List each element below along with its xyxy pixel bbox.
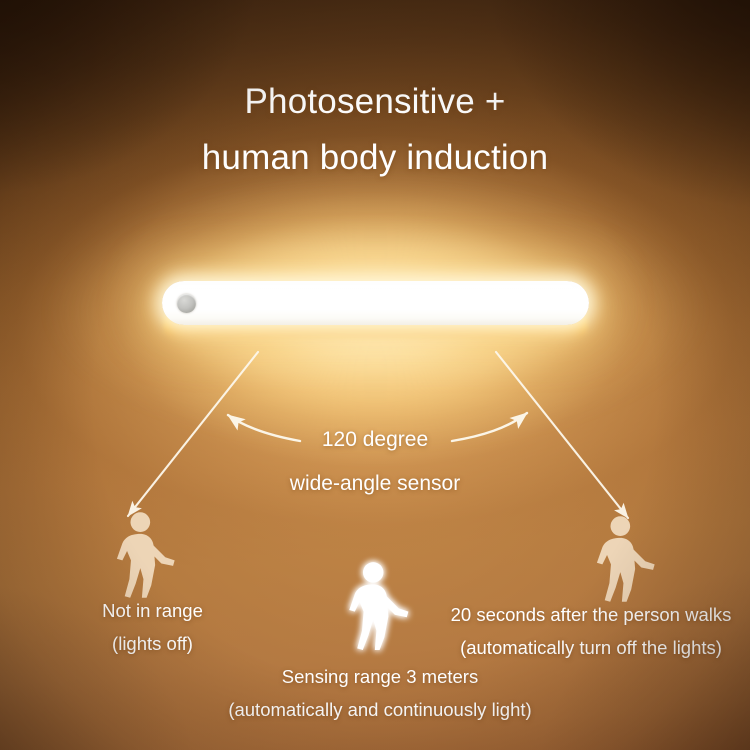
vignette-overlay bbox=[0, 0, 750, 750]
infographic-canvas: Photosensitive + human body induction bbox=[0, 0, 750, 750]
